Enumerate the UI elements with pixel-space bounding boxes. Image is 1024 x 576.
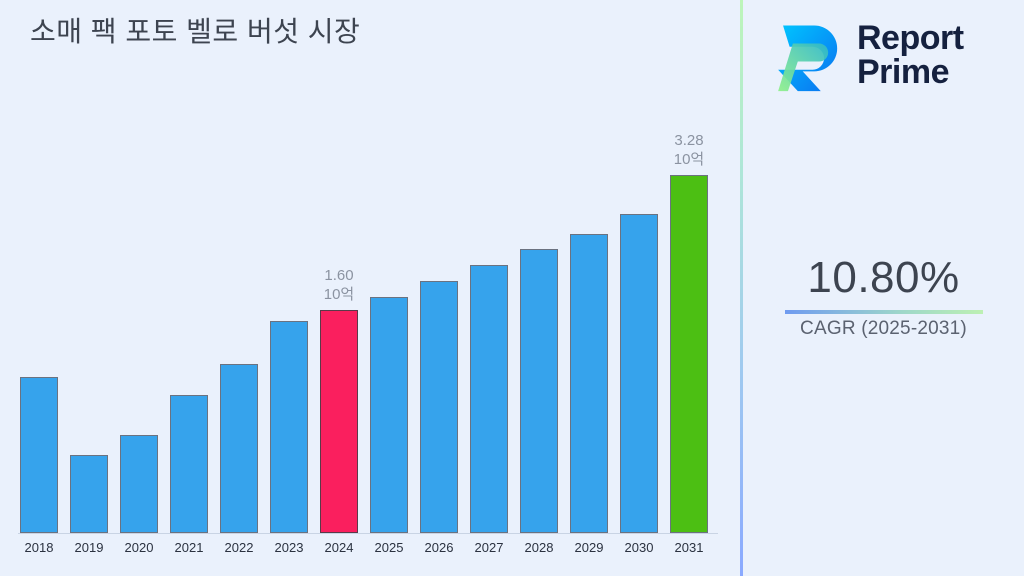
cagr-caption: CAGR (2025-2031) [743,318,1024,340]
bar-group[interactable] [520,249,558,533]
cagr-value: 10.80% [743,252,1024,304]
brand-panel: Report Prime 10.80% CAGR (2025-2031) [743,0,1024,576]
brand-name: Report Prime [857,21,964,89]
bar-group[interactable]: 1.6010억 [320,310,358,533]
brand-name-line2: Prime [857,55,964,89]
bar-group[interactable] [20,377,58,533]
bar-value-label: 3.2810억 [644,131,734,169]
bar-2025[interactable] [370,297,408,533]
bar-2029[interactable] [570,234,608,533]
bar-group[interactable] [270,321,308,533]
bar-2024[interactable] [320,310,358,533]
brand-name-line1: Report [857,19,964,57]
bar-group[interactable] [620,214,658,533]
bar-group[interactable] [370,297,408,533]
bar-chart-plot: 2018201920202021202220231.6010억202420252… [0,0,740,576]
bar-group[interactable] [70,455,108,533]
bar-2020[interactable] [120,435,158,533]
bar-group[interactable]: 3.2810억 [670,175,708,533]
bar-2026[interactable] [420,281,458,533]
bar-2028[interactable] [520,249,558,533]
brand-logo: Report Prime [765,14,964,96]
x-axis-line [18,533,718,534]
bar-2023[interactable] [270,321,308,533]
bar-2019[interactable] [70,455,108,533]
bar-2018[interactable] [20,377,58,533]
chart-panel: 소매 팩 포토 벨로 버섯 시장 20182019202020212022202… [0,0,740,576]
bar-2030[interactable] [620,214,658,533]
bar-group[interactable] [420,281,458,533]
bar-group[interactable] [120,435,158,533]
bar-group[interactable] [470,265,508,533]
bar-2031[interactable] [670,175,708,533]
bar-group[interactable] [170,395,208,533]
cagr-block: 10.80% CAGR (2025-2031) [743,252,1024,340]
report-prime-r-mark-icon [765,14,847,96]
bar-2021[interactable] [170,395,208,533]
cagr-divider-rule [785,310,983,314]
bar-group[interactable] [220,364,258,533]
slide-root: 소매 팩 포토 벨로 버섯 시장 20182019202020212022202… [0,0,1024,576]
bar-group[interactable] [570,234,608,533]
bar-2022[interactable] [220,364,258,533]
x-tick-2031: 2031 [659,540,719,555]
bar-2027[interactable] [470,265,508,533]
